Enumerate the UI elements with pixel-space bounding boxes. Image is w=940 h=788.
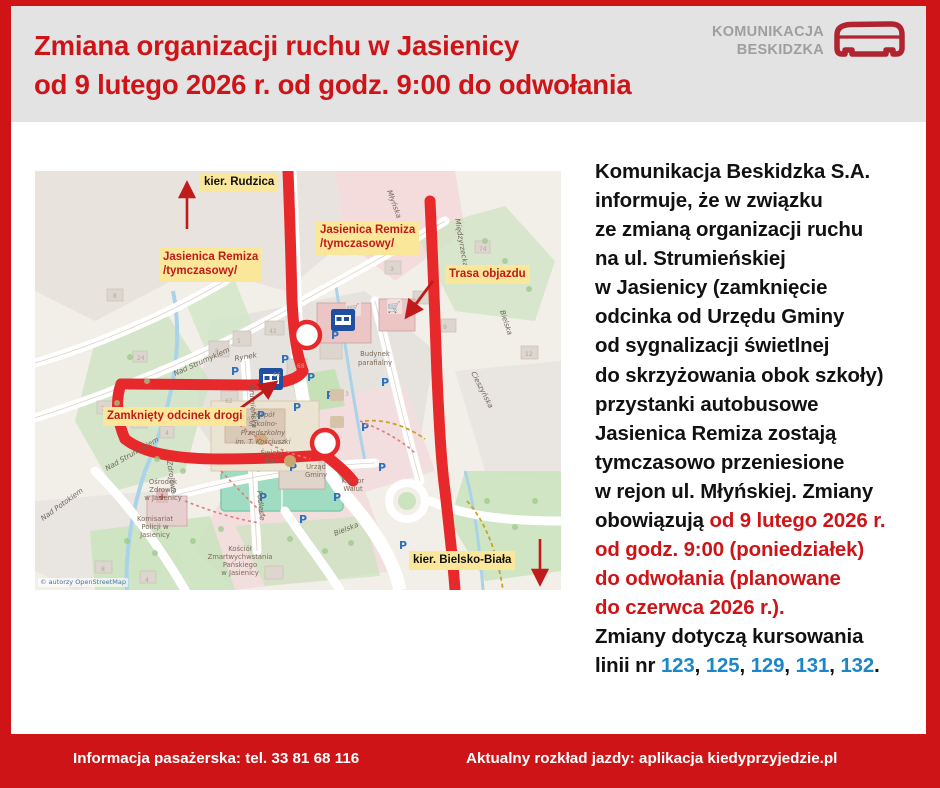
svg-text:Urząd: Urząd — [306, 463, 326, 471]
svg-text:w Jasienicy: w Jasienicy — [221, 569, 258, 577]
sep-1: , — [695, 655, 706, 677]
svg-text:4: 4 — [165, 430, 169, 437]
svg-text:Kantor: Kantor — [342, 477, 365, 485]
info-line-4: na ul. Strumieńskiej — [595, 248, 786, 270]
sep-2: , — [740, 655, 751, 677]
sep-4: , — [829, 655, 840, 677]
svg-text:4: 4 — [145, 577, 149, 584]
svg-text:Budynek: Budynek — [360, 350, 390, 358]
svg-text:12: 12 — [525, 351, 533, 358]
map-label-kier-rudzica: kier. Rudzica — [200, 173, 278, 192]
svg-text:P: P — [231, 365, 239, 378]
info-line-12: w rejon ul. Młyńskiej. Zmiany — [595, 481, 873, 503]
svg-text:P: P — [381, 376, 389, 389]
svg-text:Gminy: Gminy — [305, 471, 327, 479]
svg-text:P: P — [399, 539, 407, 552]
svg-text:parafialny: parafialny — [358, 359, 392, 367]
bus-icon — [831, 21, 905, 61]
svg-text:Ośrodek: Ośrodek — [149, 478, 177, 486]
info-line-7: od sygnalizacji świetlnej — [595, 335, 829, 357]
svg-text:Zmartwychwstania: Zmartwychwstania — [208, 553, 273, 561]
map-image[interactable]: P P P P P P P P P P P P P P P — [35, 171, 561, 590]
svg-text:im. T. Kościuszki: im. T. Kościuszki — [235, 438, 290, 446]
info-line-19: linii nr — [595, 655, 661, 677]
svg-text:Święty: Święty — [261, 448, 284, 457]
svg-text:3: 3 — [345, 391, 349, 398]
svg-text:P: P — [293, 401, 301, 414]
svg-text:Kościół: Kościół — [228, 545, 252, 553]
info-line-13: obowiązują — [595, 510, 709, 532]
svg-text:66: 66 — [273, 372, 281, 379]
page-title: Zmiana organizacji ruchu w Jasienicy od … — [34, 26, 631, 104]
info-highlight-planned: do czerwca 2026 r.). — [595, 597, 785, 619]
info-line-10: Jasienica Remiza zostają — [595, 423, 836, 445]
svg-text:8: 8 — [215, 348, 219, 355]
info-line-2: informuje, że w związku — [595, 190, 823, 212]
svg-text:24: 24 — [137, 355, 145, 362]
line-number-123: 123 — [661, 655, 695, 677]
svg-text:Jasienicy: Jasienicy — [139, 531, 170, 539]
svg-text:42: 42 — [269, 328, 277, 335]
svg-text:Komisariat: Komisariat — [137, 515, 173, 523]
svg-text:8: 8 — [101, 566, 105, 573]
poster-root: Zmiana organizacji ruchu w Jasienicy od … — [0, 0, 940, 788]
svg-text:68: 68 — [297, 363, 305, 370]
map-label-jasienica-remiza-right: Jasienica Remiza /tymczasowy/ — [316, 221, 419, 255]
map-label-jasienica-remiza-left: Jasienica Remiza /tymczasowy/ — [159, 248, 262, 282]
svg-text:8: 8 — [113, 293, 117, 300]
info-highlight-date: od 9 lutego 2026 r. — [709, 510, 885, 532]
svg-text:74: 74 — [479, 246, 487, 253]
map-canvas: P P P P P P P P P P P P P P P — [35, 171, 561, 590]
svg-text:P: P — [361, 421, 369, 434]
brand-logo-text: KOMUNIKACJA BESKIDZKA — [712, 23, 824, 60]
svg-text:Przedszkolny: Przedszkolny — [241, 429, 286, 437]
osm-attribution[interactable]: © autorzy OpenStreetMap — [38, 578, 128, 587]
line-number-131: 131 — [796, 655, 830, 677]
svg-text:P: P — [307, 371, 315, 384]
svg-text:1: 1 — [417, 297, 421, 304]
info-text-block: Komunikacja Beskidzka S.A. informuje, że… — [595, 158, 919, 681]
svg-text:P: P — [281, 353, 289, 366]
svg-text:Szkolno-: Szkolno- — [249, 420, 278, 428]
svg-text:Zespół: Zespół — [251, 411, 276, 419]
line-number-132: 132 — [840, 655, 874, 677]
svg-text:P: P — [299, 513, 307, 526]
content-area: P P P P P P P P P P P P P P P — [11, 122, 926, 734]
info-line-9: przystanki autobusowe — [595, 394, 818, 416]
info-line-18: Zmiany dotyczą kursowania — [595, 626, 863, 648]
svg-text:Zdrowia: Zdrowia — [149, 486, 176, 494]
sep-3: , — [784, 655, 795, 677]
footer-bar: Informacja pasażerska: tel. 33 81 68 116… — [11, 734, 926, 788]
svg-text:3: 3 — [390, 266, 394, 273]
info-line-8: do skrzyżowania obok szkoły) — [595, 365, 883, 387]
info-highlight-time: od godz. 9:00 (poniedziałek) — [595, 539, 864, 561]
svg-text:🛒: 🛒 — [387, 301, 401, 314]
svg-text:w Jasienicy: w Jasienicy — [144, 494, 181, 502]
svg-text:1: 1 — [237, 338, 241, 345]
line-number-125: 125 — [706, 655, 740, 677]
info-line-5: w Jasienicy (zamknięcie — [595, 277, 827, 299]
svg-text:Pańskiego: Pańskiego — [223, 561, 257, 569]
period: . — [874, 655, 880, 677]
brand-logo: KOMUNIKACJA BESKIDZKA — [712, 21, 905, 61]
svg-text:P: P — [333, 491, 341, 504]
info-line-6: odcinka od Urzędu Gminy — [595, 306, 844, 328]
info-line-1: Komunikacja Beskidzka S.A. — [595, 161, 870, 183]
map-label-trasa-objazdu: Trasa objazdu — [445, 265, 530, 284]
svg-text:Bart: Bart — [265, 457, 280, 465]
svg-text:P: P — [378, 461, 386, 474]
svg-text:Policji w: Policji w — [141, 523, 168, 531]
map-label-kier-bielsko-biala: kier. Bielsko-Biała — [409, 551, 515, 570]
info-line-3: ze zmianą organizacji ruchu — [595, 219, 863, 241]
info-highlight-until: do odwołania (planowane — [595, 568, 841, 590]
line-number-129: 129 — [751, 655, 785, 677]
svg-text:9: 9 — [443, 324, 447, 331]
svg-text:62: 62 — [225, 398, 233, 405]
info-line-11: tymczasowo przeniesione — [595, 452, 844, 474]
footer-timetable-info: Aktualny rozkład jazdy: aplikacja kiedyp… — [466, 750, 837, 767]
header-bar: Zmiana organizacji ruchu w Jasienicy od … — [11, 6, 926, 122]
map-label-zamkniety-odcinek: Zamknięty odcinek drogi — [103, 407, 246, 426]
footer-passenger-info: Informacja pasażerska: tel. 33 81 68 116 — [73, 750, 359, 767]
svg-text:Walut: Walut — [343, 485, 363, 493]
